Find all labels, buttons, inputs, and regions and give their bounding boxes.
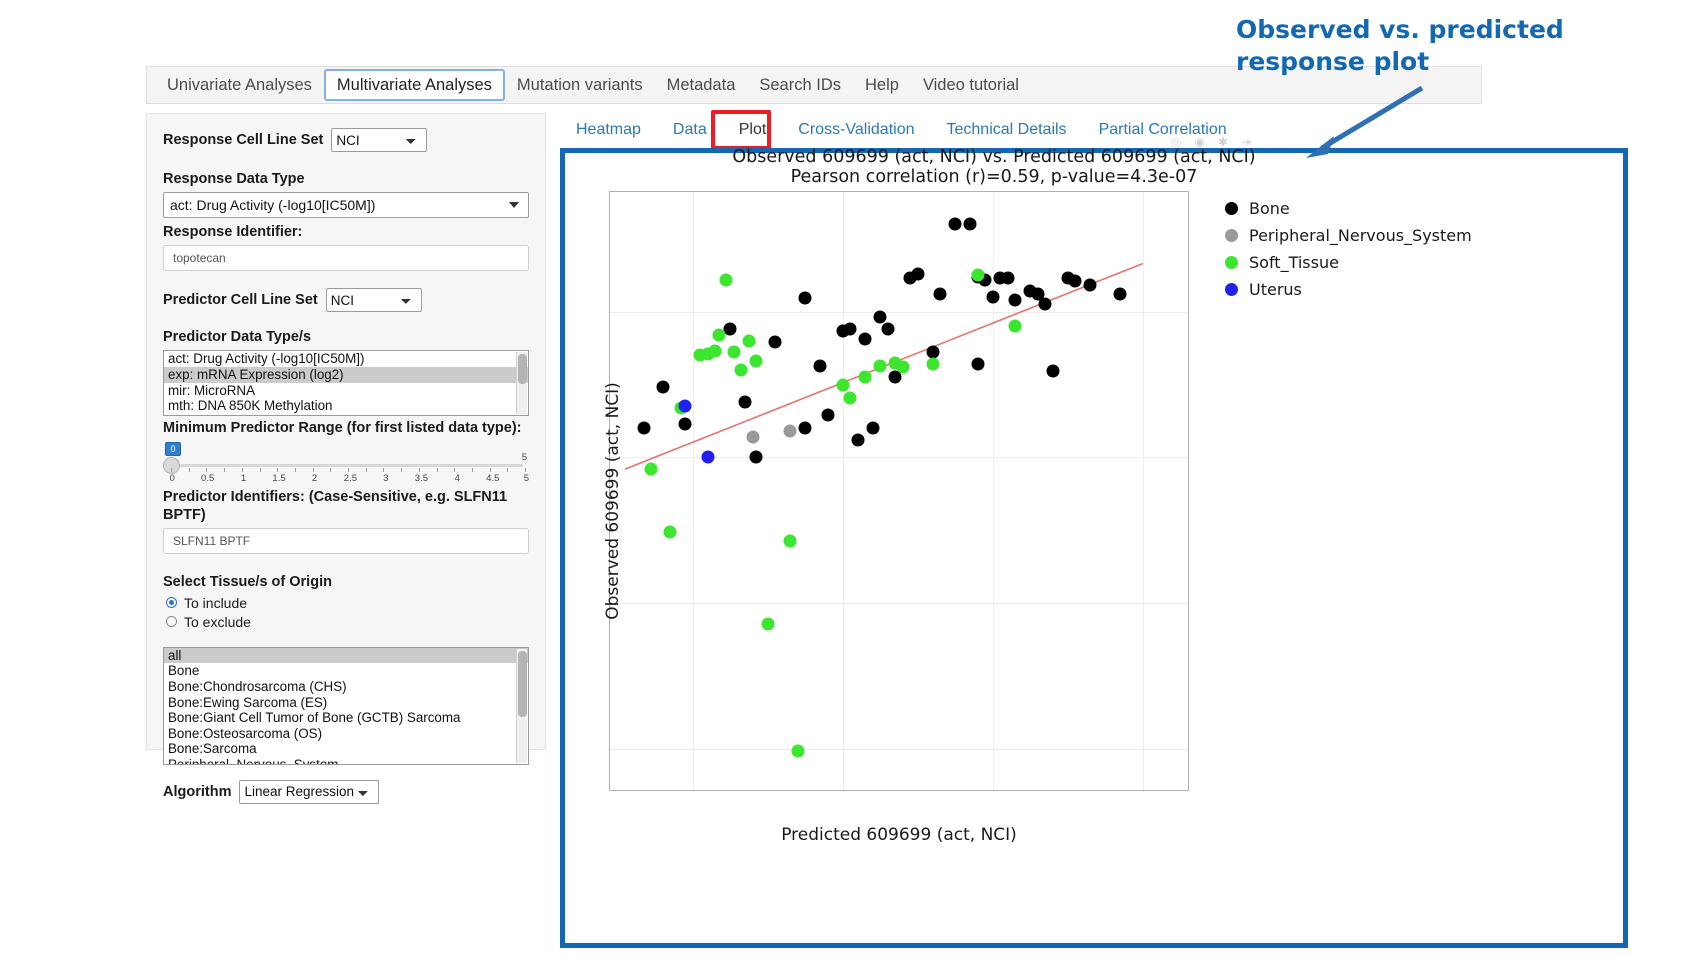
legend-label: Soft_Tissue (1249, 253, 1339, 272)
scatter-point[interactable] (1069, 274, 1082, 287)
legend-item-bone[interactable]: Bone (1225, 195, 1472, 222)
scatter-point[interactable] (761, 617, 774, 630)
slider-tick-label: 4.5 (486, 473, 499, 484)
legend-item-soft-tissue[interactable]: Soft_Tissue (1225, 249, 1472, 276)
scatter-point[interactable] (712, 328, 725, 341)
scatter-point[interactable] (679, 417, 692, 430)
nav-tab-multivariate-analyses[interactable]: Multivariate Analyses (324, 69, 505, 101)
subtab-heatmap[interactable]: Heatmap (560, 115, 657, 145)
plot-region-highlight-box: Observed 609699 (act, NCI) vs. Predicted… (560, 148, 1628, 948)
radio-icon[interactable] (166, 597, 177, 608)
scatter-point[interactable] (851, 433, 864, 446)
list-item[interactable]: all (164, 648, 528, 664)
predictor-data-types-listbox[interactable]: act: Drug Activity (-log10[IC50M]) exp: … (163, 350, 529, 416)
scrollbar-thumb[interactable] (518, 354, 527, 384)
scatter-point[interactable] (926, 358, 939, 371)
slider-track[interactable] (171, 464, 523, 467)
response-cell-line-set-row: Response Cell Line Set NCI (163, 128, 529, 152)
nav-tab-label: Help (865, 76, 899, 94)
legend-color-swatch (1225, 229, 1238, 242)
response-identifier-input[interactable]: topotecan (163, 245, 529, 271)
input-value: SLFN11 BPTF (173, 534, 250, 548)
nav-tab-label: Mutation variants (517, 76, 643, 94)
list-item[interactable]: Bone:Osteosarcoma (OS) (164, 726, 528, 742)
response-data-type-label: Response Data Type (163, 170, 529, 188)
list-item[interactable]: Peripheral_Nervous_System (164, 757, 528, 765)
subtab-label: Technical Details (947, 121, 1067, 138)
scatter-point[interactable] (836, 378, 849, 391)
nav-tab-search-ids[interactable]: Search IDs (747, 70, 853, 100)
scatter-point[interactable] (750, 451, 763, 464)
zoom-out-icon[interactable]: ◉ (1194, 135, 1204, 149)
nav-tab-label: Video tutorial (923, 76, 1019, 94)
nav-tab-label: Multivariate Analyses (337, 76, 492, 94)
scatter-point[interactable] (874, 359, 887, 372)
listbox-scrollbar[interactable] (516, 649, 527, 763)
algorithm-select[interactable]: Linear Regression (239, 780, 379, 804)
nav-tab-label: Univariate Analyses (167, 76, 312, 94)
scatter-point[interactable] (799, 422, 812, 435)
scatter-point[interactable] (709, 344, 722, 357)
response-cell-line-set-label: Response Cell Line Set (163, 131, 323, 149)
listbox-scrollbar[interactable] (516, 352, 527, 414)
scatter-point[interactable] (934, 288, 947, 301)
subtab-label: Heatmap (576, 121, 641, 138)
scatter-point[interactable] (821, 409, 834, 422)
scatter-point[interactable] (1039, 298, 1052, 311)
subtab-cross-validation[interactable]: Cross-Validation (782, 115, 930, 145)
input-value: topotecan (173, 251, 226, 265)
nav-tab-label: Search IDs (759, 76, 841, 94)
nav-tab-mutation-variants[interactable]: Mutation variants (505, 70, 655, 100)
scatter-point[interactable] (1009, 320, 1022, 333)
scatter-point[interactable] (1009, 293, 1022, 306)
scatter-point[interactable] (746, 431, 759, 444)
scatter-point[interactable] (866, 422, 879, 435)
scatter-point[interactable] (637, 422, 650, 435)
slider-tick-label: 2 (312, 473, 317, 484)
x-axis-tick-mark (993, 790, 994, 791)
scatter-point[interactable] (645, 463, 658, 476)
algorithm-row: Algorithm Linear Regression (163, 780, 529, 804)
scatter-point[interactable] (881, 323, 894, 336)
scatter-point[interactable] (720, 273, 733, 286)
subtab-label: Cross-Validation (798, 121, 914, 138)
subtab-data[interactable]: Data (657, 115, 723, 145)
slider-tick-labels: 0 0.5 1 1.5 2 2.5 3 3.5 4 4.5 5 (163, 473, 529, 485)
response-identifier-label: Response Identifier: (163, 223, 529, 241)
slider-tick-label: 3 (383, 473, 388, 484)
legend-item-peripheral-nervous-system[interactable]: Peripheral_Nervous_System (1225, 222, 1472, 249)
list-item[interactable]: Bone:Chondrosarcoma (CHS) (164, 679, 528, 695)
scatter-point[interactable] (859, 371, 872, 384)
subtab-label: Data (673, 121, 707, 138)
slider-tick-label: 1 (241, 473, 246, 484)
predictor-data-types-label: Predictor Data Type/s (163, 328, 529, 346)
nav-tab-label: Metadata (667, 76, 736, 94)
slider-value-bubble: 0 (165, 442, 181, 456)
legend-color-swatch (1225, 256, 1238, 269)
slider-tick-label: 4 (455, 473, 460, 484)
plot-modebar[interactable]: ◎ ◉ ✱ ⇥ (1171, 135, 1251, 149)
slider-tick-label: 3.5 (415, 473, 428, 484)
scatter-point[interactable] (1001, 272, 1014, 285)
scatter-point[interactable] (750, 355, 763, 368)
scatter-point[interactable] (784, 425, 797, 438)
response-data-type-select[interactable]: act: Drug Activity (-log10[IC50M]) (163, 192, 529, 218)
scatter-point[interactable] (769, 336, 782, 349)
list-item[interactable]: mth: DNA 850K Methylation (164, 398, 528, 414)
chart-title: Observed 609699 (act, NCI) vs. Predicted… (565, 147, 1423, 167)
scatter-point[interactable] (679, 400, 692, 413)
lasso-select-icon[interactable]: ✱ (1218, 135, 1228, 149)
slider-tick-label: 2.5 (344, 473, 357, 484)
predictor-cell-line-set-select[interactable]: NCI (326, 288, 422, 312)
subtab-technical-details[interactable]: Technical Details (931, 115, 1083, 145)
scatter-point[interactable] (911, 267, 924, 280)
scatter-point[interactable] (859, 333, 872, 346)
reset-axes-icon[interactable]: ⇥ (1241, 135, 1251, 149)
scatter-point[interactable] (844, 391, 857, 404)
legend-label: Uterus (1249, 280, 1302, 299)
scatter-point[interactable] (735, 363, 748, 376)
scatter-point[interactable] (814, 359, 827, 372)
nav-tab-video-tutorial[interactable]: Video tutorial (911, 70, 1031, 100)
list-item[interactable]: Bone:Sarcoma (164, 741, 528, 757)
scatter-point[interactable] (701, 451, 714, 464)
scatter-point[interactable] (971, 269, 984, 282)
list-item[interactable]: mir: MicroRNA (164, 383, 528, 399)
tissue-radio-to-include[interactable]: To include (166, 595, 529, 611)
slider-tick-label: 0.5 (201, 473, 214, 484)
list-item[interactable]: Bone:Ewing Sarcoma (ES) (164, 695, 528, 711)
predictor-cell-line-set-label: Predictor Cell Line Set (163, 291, 318, 309)
scatter-point[interactable] (791, 744, 804, 757)
scatter-point[interactable] (964, 218, 977, 231)
scatter-point[interactable] (724, 323, 737, 336)
scatter-point[interactable] (799, 292, 812, 305)
slider-tick-label: 0 (169, 473, 174, 484)
predictor-identifiers-label: Predictor Identifiers: (Case-Sensitive, … (163, 488, 529, 524)
scatter-point[interactable] (971, 358, 984, 371)
scatter-point[interactable] (784, 534, 797, 547)
slider-max-label: 5 (522, 452, 527, 463)
list-item[interactable]: act: Drug Activity (-log10[IC50M]) (164, 351, 528, 367)
tissue-listbox[interactable]: all Bone Bone:Chondrosarcoma (CHS) Bone:… (163, 647, 529, 765)
x-axis-tick-mark (843, 790, 844, 791)
annotation-arrow-icon (1300, 84, 1430, 160)
x-axis-tick-mark (1143, 790, 1144, 791)
chart-legend: Bone Peripheral_Nervous_System Soft_Tiss… (1225, 195, 1472, 303)
scatter-point[interactable] (844, 323, 857, 336)
scatter-point[interactable] (742, 334, 755, 347)
select-value: act: Drug Activity (-log10[IC50M]) (170, 197, 375, 213)
scatter-plot: Observed 609699 (act, NCI) vs. Predicted… (565, 153, 1623, 943)
list-item[interactable]: exp: mRNA Expression (log2) (164, 367, 528, 383)
plot-canvas[interactable]: 7.27.68.08.45678 (609, 191, 1189, 791)
x-axis-label: Predicted 609699 (act, NCI) (609, 825, 1189, 845)
select-tissue-label: Select Tissue/s of Origin (163, 573, 529, 591)
scatter-point[interactable] (949, 218, 962, 231)
subtab-label: Plot (739, 121, 767, 138)
list-item[interactable]: Bone (164, 663, 528, 679)
chart-subtitle: Pearson correlation (r)=0.59, p-value=4.… (565, 167, 1423, 187)
scatter-point[interactable] (656, 381, 669, 394)
legend-item-uterus[interactable]: Uterus (1225, 276, 1472, 303)
list-item[interactable]: Bone:Giant Cell Tumor of Bone (GCTB) Sar… (164, 710, 528, 726)
legend-color-swatch (1225, 283, 1238, 296)
legend-label: Peripheral_Nervous_System (1249, 226, 1472, 245)
scatter-point[interactable] (986, 291, 999, 304)
scatter-point[interactable] (739, 396, 752, 409)
radio-label: To exclude (184, 614, 251, 630)
zoom-in-icon[interactable]: ◎ (1171, 135, 1181, 149)
scatter-point[interactable] (896, 361, 909, 374)
legend-label: Bone (1249, 199, 1290, 218)
radio-label: To include (184, 595, 247, 611)
nav-tab-univariate-analyses[interactable]: Univariate Analyses (155, 70, 324, 100)
y-axis-label: Observed 609699 (act, NCI) (603, 201, 623, 801)
scatter-point[interactable] (664, 525, 677, 538)
scatter-point[interactable] (1114, 288, 1127, 301)
minimum-predictor-range-label: Minimum Predictor Range (for first liste… (163, 419, 529, 437)
response-cell-line-set-select[interactable]: NCI (331, 128, 427, 152)
nav-tab-metadata[interactable]: Metadata (655, 70, 748, 100)
x-axis-tick-mark (693, 790, 694, 791)
tissue-radio-to-exclude[interactable]: To exclude (166, 614, 529, 630)
predictor-identifiers-input[interactable]: SLFN11 BPTF (163, 528, 529, 554)
regression-trendline (610, 192, 1188, 790)
legend-color-swatch (1225, 202, 1238, 215)
slider-tick-label: 5 (524, 473, 529, 484)
scatter-point[interactable] (727, 346, 740, 359)
slider-tick-label: 1.5 (272, 473, 285, 484)
predictor-cell-line-set-row: Predictor Cell Line Set NCI (163, 288, 529, 312)
radio-icon[interactable] (166, 616, 177, 627)
subtab-plot[interactable]: Plot (723, 115, 783, 145)
annotation-callout-text: Observed vs. predicted response plot (1236, 14, 1576, 78)
scrollbar-thumb[interactable] (518, 651, 527, 717)
parameters-panel: Response Cell Line Set NCI Response Data… (146, 113, 546, 750)
scatter-point[interactable] (1084, 279, 1097, 292)
nav-tab-help[interactable]: Help (853, 70, 911, 100)
chevron-down-icon (509, 202, 519, 208)
algorithm-label: Algorithm (163, 783, 231, 801)
scatter-point[interactable] (1046, 365, 1059, 378)
minimum-predictor-range-slider[interactable]: 0 5 0 0.5 1 1.5 2 2.5 3 3.5 4 4.5 5 (163, 442, 529, 486)
